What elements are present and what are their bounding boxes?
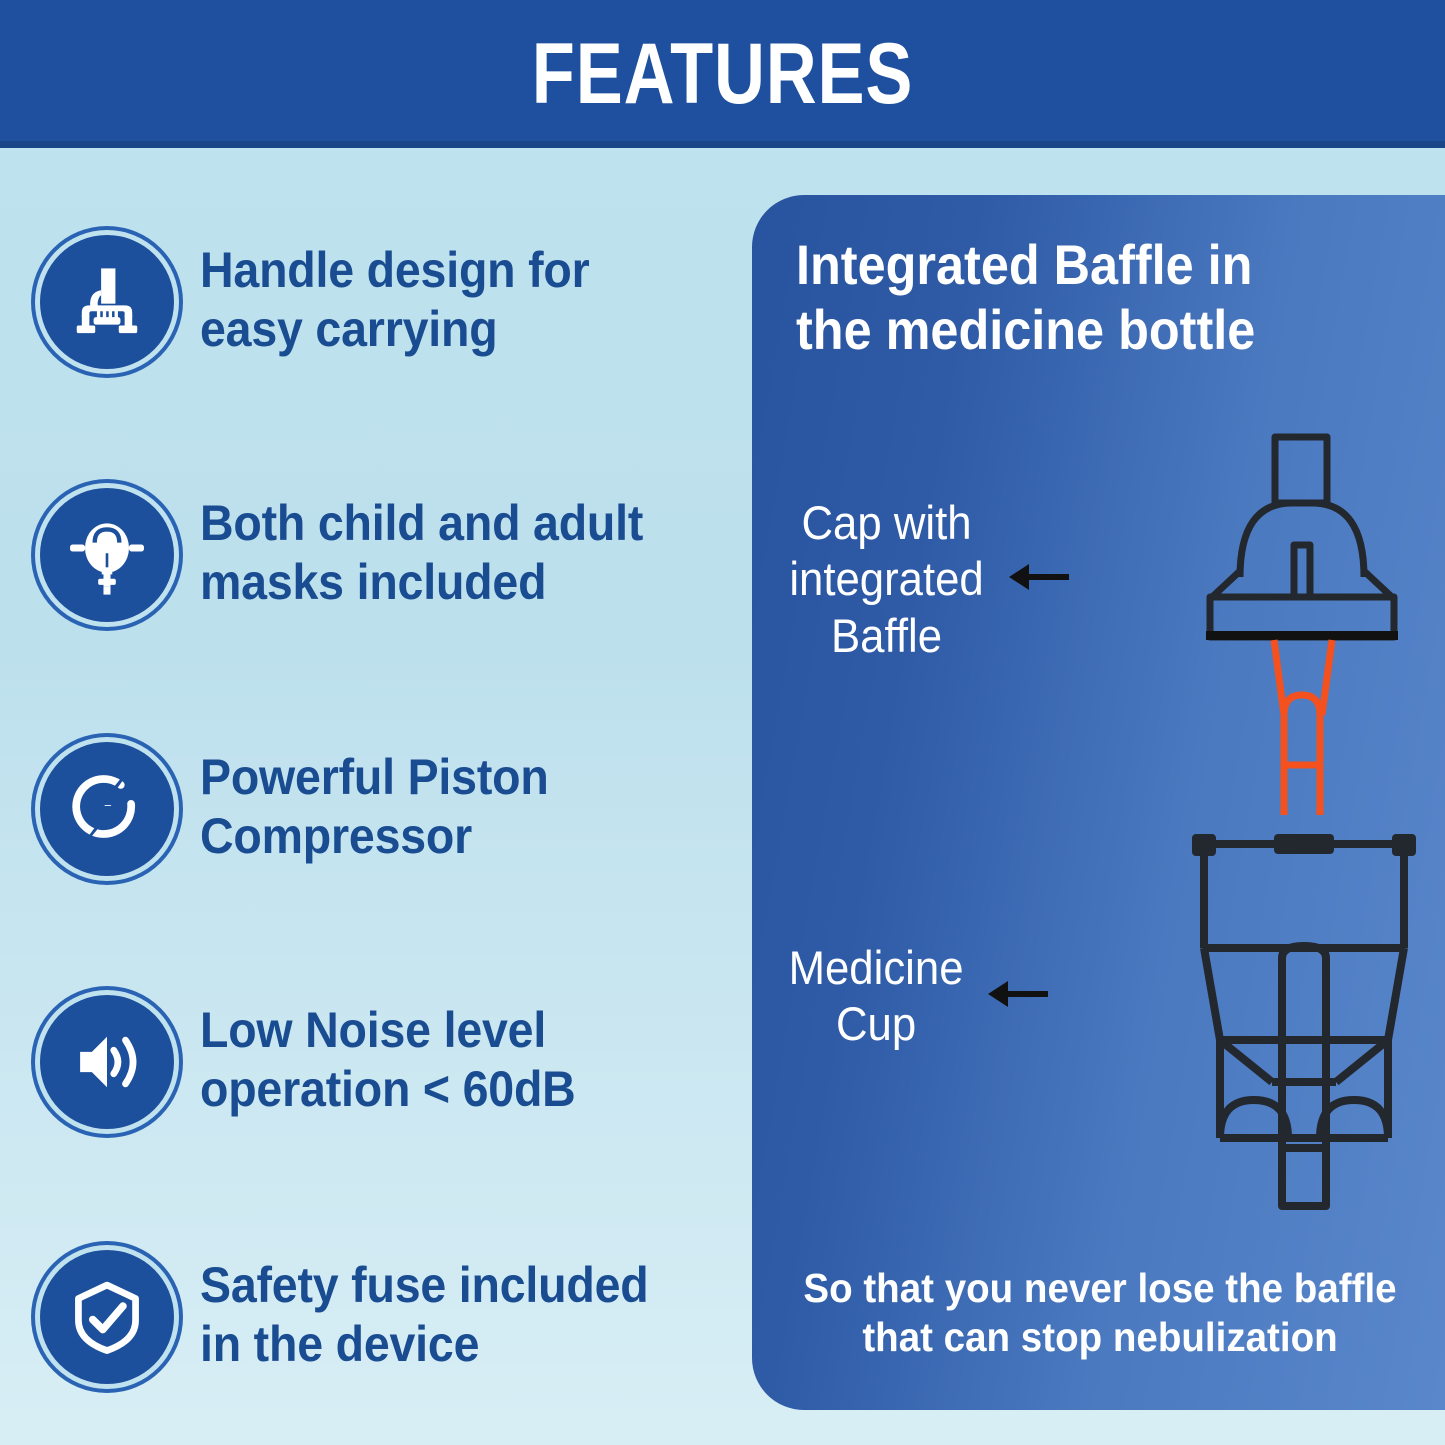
feature-item-low-noise: Low Noise level operation < 60dB <box>40 995 730 1129</box>
shield-check-icon <box>40 1250 174 1384</box>
feature-label: Handle design for easy carrying <box>200 235 590 359</box>
feature-label: Powerful Piston Compressor <box>200 742 549 866</box>
page-title: FEATURES <box>130 0 1315 148</box>
callout-label: Cap with integrated Baffle <box>789 495 983 664</box>
cap-with-baffle-diagram <box>1192 425 1432 820</box>
panel-title: Integrated Baffle in the medicine bottle <box>796 233 1354 363</box>
feature-item-handle-design: Handle design for easy carrying <box>40 235 730 369</box>
lightning-bolt-icon <box>40 742 174 876</box>
features-list: Handle design for easy carrying <box>0 160 745 1445</box>
feature-label: Both child and adult masks included <box>200 488 643 612</box>
header-bar: FEATURES <box>0 0 1445 148</box>
speaker-volume-icon <box>40 995 174 1129</box>
nebulizer-mask-icon <box>40 488 174 622</box>
callout-label: Medicine Cup <box>789 940 964 1053</box>
feature-label: Low Noise level operation < 60dB <box>200 995 576 1119</box>
callout-cap-with-baffle: Cap with integrated Baffle <box>782 495 1182 664</box>
arrow-left-icon <box>1007 560 1069 599</box>
infographic-page: FEATURES <box>0 0 1445 1445</box>
feature-item-piston-compressor: Powerful Piston Compressor <box>40 742 730 876</box>
hand-carrying-handle-icon <box>40 235 174 369</box>
feature-label: Safety fuse included in the device <box>200 1250 648 1374</box>
arrow-left-icon <box>986 977 1048 1016</box>
feature-item-safety-fuse: Safety fuse included in the device <box>40 1250 730 1384</box>
panel-footer-note: So that you never lose the baffle that c… <box>790 1264 1410 1362</box>
integrated-baffle-panel: Integrated Baffle in the medicine bottle… <box>752 195 1445 1410</box>
medicine-cup-diagram <box>1172 820 1437 1215</box>
callout-medicine-cup: Medicine Cup <box>782 940 1182 1053</box>
feature-item-masks-included: Both child and adult masks included <box>40 488 730 622</box>
